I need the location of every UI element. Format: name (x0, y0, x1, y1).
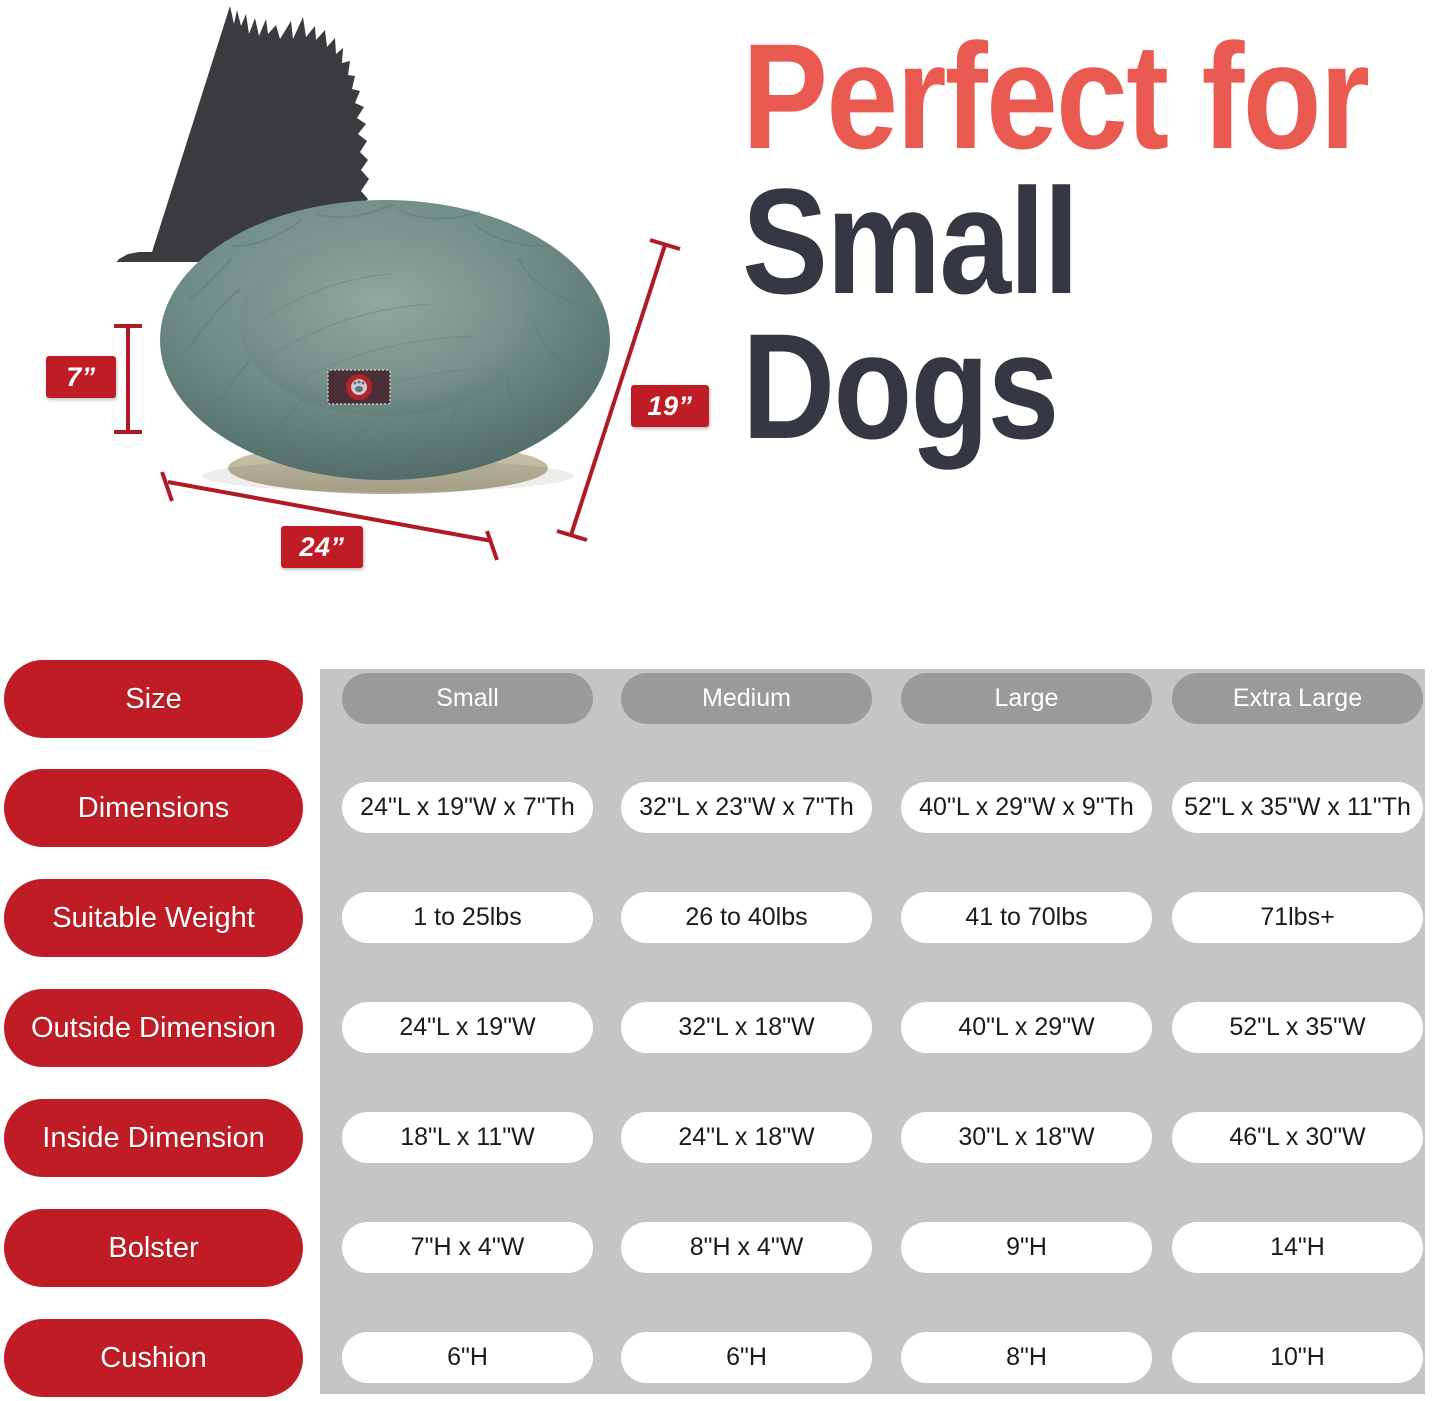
hero-section: 7” 24” 19” Perfect for Small Dogs (0, 0, 1445, 650)
table-cell: 24"L x 18"W (621, 1112, 872, 1163)
table-cell: 10"H (1172, 1332, 1423, 1383)
table-cell: 24"L x 19"W (342, 1002, 593, 1053)
dimension-label-length: 24” (281, 526, 363, 568)
table-cell: 40"L x 29"W (901, 1002, 1152, 1053)
row-label-bolster: Bolster (4, 1209, 303, 1287)
table-cell: 6"H (342, 1332, 593, 1383)
table-cell: 1 to 25lbs (342, 892, 593, 943)
spec-table: SizeSmallMediumLargeExtra LargeDimension… (0, 660, 1445, 1401)
table-cell: 32"L x 18"W (621, 1002, 872, 1053)
table-cell: 52"L x 35"W (1172, 1002, 1423, 1053)
column-header-large: Large (901, 673, 1152, 724)
row-label-size: Size (4, 660, 303, 738)
row-label-outside-dimension: Outside Dimension (4, 989, 303, 1067)
table-cell: 24"L x 19"W x 7"Th (342, 782, 593, 833)
row-label-inside-dimension: Inside Dimension (4, 1099, 303, 1177)
column-header-small: Small (342, 673, 593, 724)
table-cell: 7"H x 4"W (342, 1222, 593, 1273)
table-cell: 46"L x 30"W (1172, 1112, 1423, 1163)
table-row: Outside Dimension24"L x 19"W32"L x 18"W4… (0, 989, 1445, 1067)
table-cell: 30"L x 18"W (901, 1112, 1152, 1163)
table-row: SizeSmallMediumLargeExtra Large (0, 660, 1445, 738)
table-row: Cushion6"H6"H8"H10"H (0, 1319, 1445, 1397)
dimension-label-height: 7” (46, 356, 116, 398)
table-cell: 18"L x 11"W (342, 1112, 593, 1163)
table-cell: 26 to 40lbs (621, 892, 872, 943)
table-cell: 14"H (1172, 1222, 1423, 1273)
table-cell: 41 to 70lbs (901, 892, 1152, 943)
headline-line-1: Perfect for (742, 26, 1344, 167)
table-cell: 40"L x 29"W x 9"Th (901, 782, 1152, 833)
row-label-cushion: Cushion (4, 1319, 303, 1397)
table-row: Dimensions24"L x 19"W x 7"Th32"L x 23"W … (0, 769, 1445, 847)
table-row: Inside Dimension18"L x 11"W24"L x 18"W30… (0, 1099, 1445, 1177)
table-cell: 52"L x 35"W x 11"Th (1172, 782, 1423, 833)
headline-line-3: Dogs (742, 316, 1344, 457)
dimension-lines (0, 0, 760, 650)
table-cell: 8"H x 4"W (621, 1222, 872, 1273)
row-label-dimensions: Dimensions (4, 769, 303, 847)
table-row: Suitable Weight1 to 25lbs26 to 40lbs41 t… (0, 879, 1445, 957)
headline: Perfect for Small Dogs (742, 26, 1442, 457)
table-cell: 8"H (901, 1332, 1152, 1383)
column-header-extra-large: Extra Large (1172, 673, 1423, 724)
table-cell: 9"H (901, 1222, 1152, 1273)
column-header-medium: Medium (621, 673, 872, 724)
headline-line-2: Small (742, 171, 1344, 312)
table-row: Bolster7"H x 4"W8"H x 4"W9"H14"H (0, 1209, 1445, 1287)
row-label-suitable-weight: Suitable Weight (4, 879, 303, 957)
dimension-label-width: 19” (631, 385, 709, 427)
table-cell: 32"L x 23"W x 7"Th (621, 782, 872, 833)
table-cell: 71lbs+ (1172, 892, 1423, 943)
table-cell: 6"H (621, 1332, 872, 1383)
